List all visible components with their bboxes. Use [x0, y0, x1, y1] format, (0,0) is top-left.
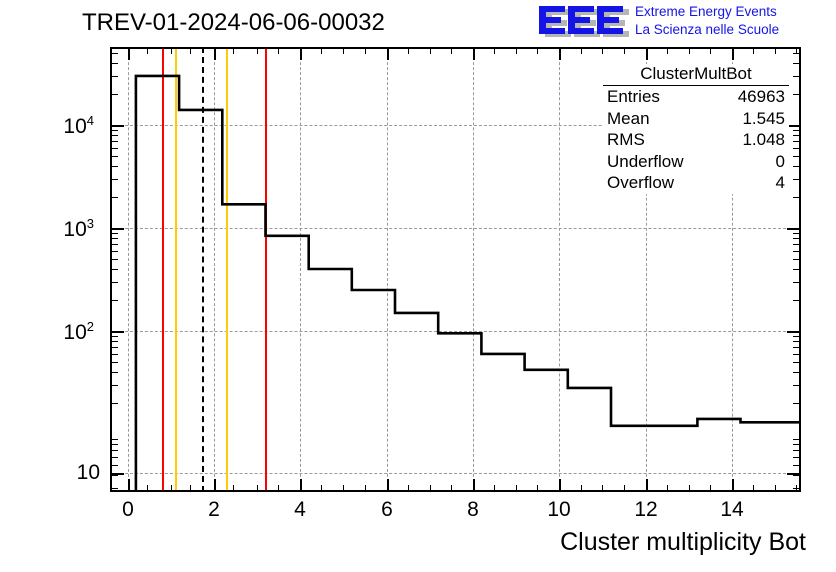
x-tick-label: 8 — [443, 498, 503, 522]
eee-logo-mark — [537, 5, 629, 39]
stats-value: 4 — [776, 172, 785, 194]
stats-value: 1.545 — [742, 108, 785, 130]
eee-logo-line2: La Scienza nelle Scuole — [635, 21, 835, 39]
stats-row: Underflow 0 — [603, 151, 789, 173]
stats-value: 46963 — [738, 86, 785, 108]
eee-logo: Extreme Energy Events La Scienza nelle S… — [537, 3, 833, 43]
y-tick-label: 10 — [30, 461, 100, 485]
stats-label: RMS — [607, 129, 645, 151]
x-tick-label: 4 — [270, 498, 330, 522]
eee-logo-line1: Extreme Energy Events — [635, 3, 835, 21]
stats-value: 0 — [776, 151, 785, 173]
x-tick-label: 2 — [184, 498, 244, 522]
eee-letters-icon — [537, 5, 629, 39]
stats-box-title: ClusterMultBot — [603, 64, 789, 86]
x-tick-label: 14 — [702, 498, 762, 522]
stats-row: Overflow 4 — [603, 172, 789, 194]
stats-label: Mean — [607, 108, 650, 130]
y-tick-label: 103 — [24, 216, 94, 242]
x-axis-title: Cluster multiplicity Bot — [560, 528, 806, 557]
stats-label: Overflow — [607, 172, 674, 194]
y-tick-label: 102 — [24, 319, 94, 345]
x-tick-label: 0 — [98, 498, 158, 522]
stats-row: RMS 1.048 — [603, 129, 789, 151]
stats-label: Entries — [607, 86, 660, 108]
page-title: TREV-01-2024-06-06-00032 — [82, 9, 385, 37]
root-canvas: TREV-01-2024-06-06-00032 Extreme Energy … — [0, 0, 836, 572]
stats-box: ClusterMultBot Entries 46963 Mean 1.545 … — [603, 64, 789, 194]
stats-value: 1.048 — [742, 129, 785, 151]
x-tick-label: 10 — [529, 498, 589, 522]
stats-label: Underflow — [607, 151, 684, 173]
y-tick-label: 104 — [24, 113, 94, 139]
eee-logo-text: Extreme Energy Events La Scienza nelle S… — [635, 3, 835, 39]
x-tick-label: 12 — [616, 498, 676, 522]
x-tick-label: 6 — [357, 498, 417, 522]
stats-row: Mean 1.545 — [603, 108, 789, 130]
stats-row: Entries 46963 — [603, 86, 789, 108]
